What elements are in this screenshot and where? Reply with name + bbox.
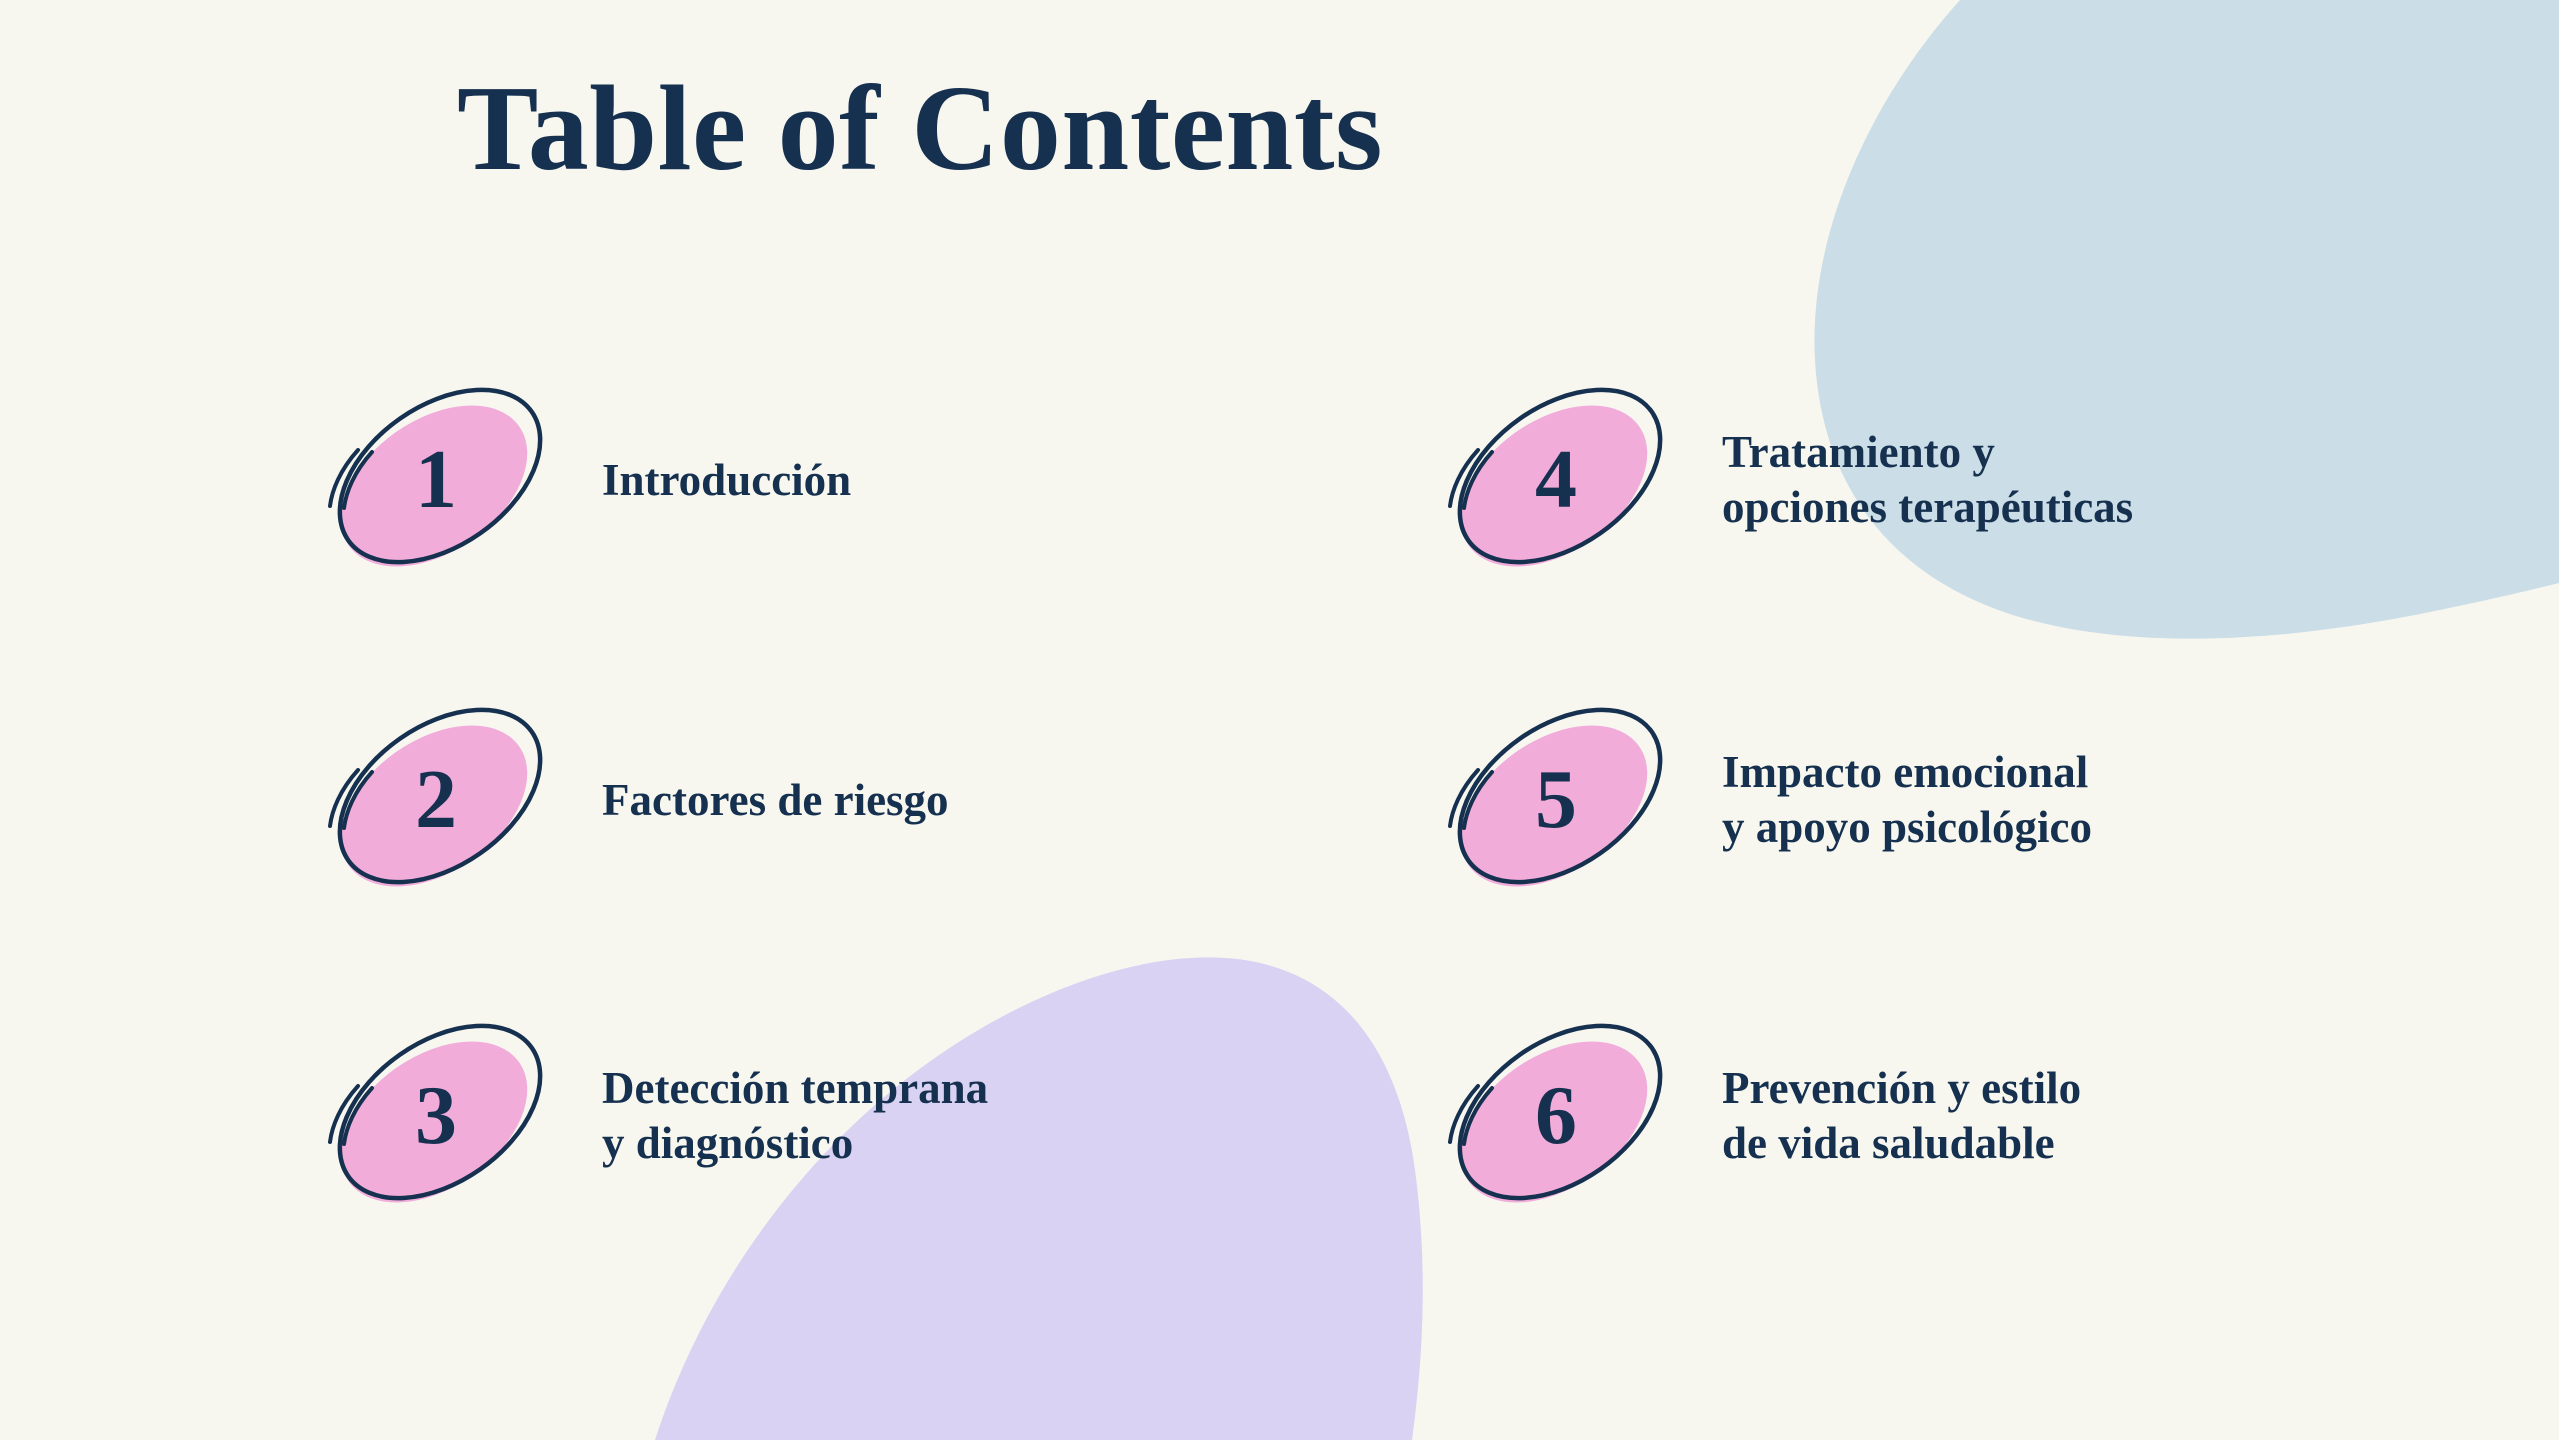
toc-item-label: Impacto emocional y apoyo psicológico	[1698, 745, 2528, 855]
toc-item-3[interactable]: 3 Detección temprana y diagnóstico	[288, 1004, 1408, 1228]
number-badge-2: 2	[288, 688, 578, 912]
toc-item-label: Prevención y estilo de vida saludable	[1698, 1061, 2528, 1171]
toc-item-label: Detección temprana y diagnóstico	[578, 1061, 1408, 1171]
toc-item-4[interactable]: 4 Tratamiento y opciones terapéuticas	[1408, 368, 2528, 592]
page-title: Table of Contents	[0, 68, 1840, 190]
badge-number-label: 2	[288, 688, 578, 912]
toc-item-6[interactable]: 6 Prevención y estilo de vida saludable	[1408, 1004, 2528, 1228]
toc-item-2[interactable]: 2 Factores de riesgo	[288, 688, 1408, 912]
toc-item-label: Tratamiento y opciones terapéuticas	[1698, 425, 2528, 535]
number-badge-3: 3	[288, 1004, 578, 1228]
badge-number-label: 6	[1408, 1004, 1698, 1228]
number-badge-5: 5	[1408, 688, 1698, 912]
toc-columns: 1 Introducción 2 Factores de riesgo	[0, 368, 2559, 1268]
badge-number-label: 3	[288, 1004, 578, 1228]
number-badge-4: 4	[1408, 368, 1698, 592]
number-badge-6: 6	[1408, 1004, 1698, 1228]
badge-number-label: 5	[1408, 688, 1698, 912]
toc-item-1[interactable]: 1 Introducción	[288, 368, 1408, 592]
slide-canvas: Table of Contents 1 Introducción	[0, 0, 2559, 1440]
toc-item-5[interactable]: 5 Impacto emocional y apoyo psicológico	[1408, 688, 2528, 912]
number-badge-1: 1	[288, 368, 578, 592]
toc-item-label: Introducción	[578, 453, 1408, 508]
badge-number-label: 4	[1408, 368, 1698, 592]
toc-item-label: Factores de riesgo	[578, 773, 1408, 828]
badge-number-label: 1	[288, 368, 578, 592]
